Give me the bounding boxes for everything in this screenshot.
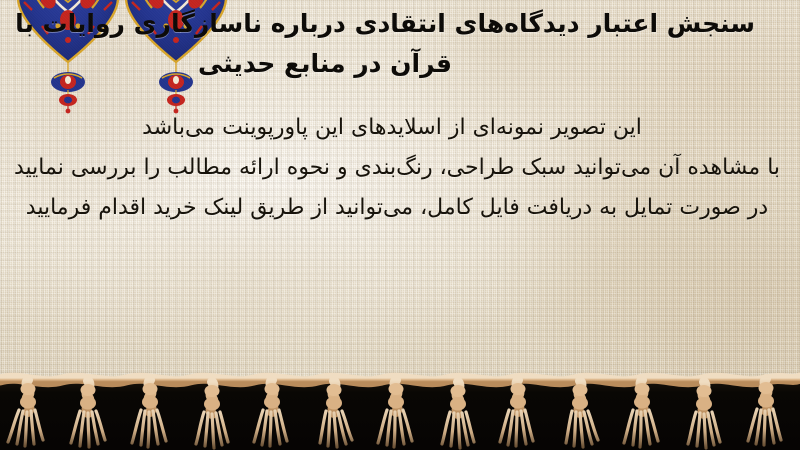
slide-body-line-3: در صورت تمایل به دریافت فایل کامل، می‌تو… [0,188,800,228]
slide-title-line-2: قرآن در منابع حدیثی [0,44,800,84]
slide-title-line-1: سنجش اعتبار دیدگاه‌های انتقادی درباره نا… [0,4,800,44]
slide-body-line-1: این تصویر نمونه‌ای از اسلایدهای این پاور… [0,108,800,148]
carpet-fringe-band [0,358,800,450]
slide-body-text: این تصویر نمونه‌ای از اسلایدهای این پاور… [0,108,800,228]
slide-canvas: سنجش اعتبار دیدگاه‌های انتقادی درباره نا… [0,0,800,450]
slide-body-line-2: با مشاهده آن می‌توانید سبک طراحی، رنگ‌بن… [0,148,800,188]
slide-title: سنجش اعتبار دیدگاه‌های انتقادی درباره نا… [0,4,800,84]
